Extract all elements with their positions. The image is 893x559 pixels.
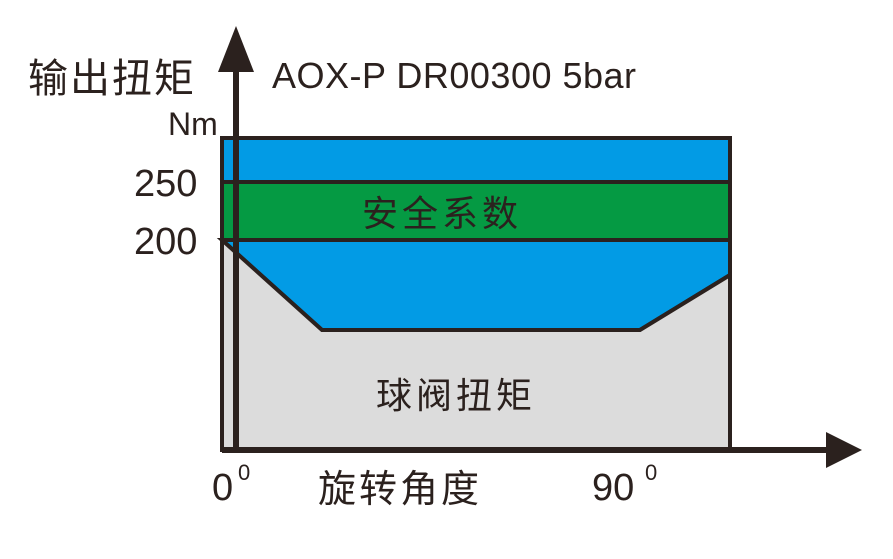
area-upper-output-band <box>222 138 730 182</box>
y-tick-label-200: 200 <box>134 221 197 263</box>
x-tick-superscript-0: 0 <box>238 460 250 485</box>
x-tick-label-0: 0 <box>212 467 233 509</box>
y-axis-unit-label: Nm <box>168 106 218 142</box>
chart-title: AOX-P DR00300 5bar <box>272 55 637 96</box>
torque-diagram: 输出扭矩 Nm 250 200 AOX-P DR00300 5bar 安全系数 … <box>0 0 893 559</box>
y-tick-label-250: 250 <box>134 163 197 205</box>
arrow-right-icon <box>826 432 862 468</box>
ball-valve-torque-label: 球阀扭矩 <box>376 375 536 416</box>
chart-canvas: 输出扭矩 Nm 250 200 AOX-P DR00300 5bar 安全系数 … <box>0 0 893 559</box>
arrow-up-icon <box>218 26 254 72</box>
x-tick-label-90: 90 <box>592 467 634 509</box>
x-tick-superscript-90: 0 <box>645 460 657 485</box>
x-axis-title: 旋转角度 <box>318 469 482 511</box>
safety-factor-label: 安全系数 <box>362 193 522 234</box>
y-axis-title: 输出扭矩 <box>28 57 196 101</box>
